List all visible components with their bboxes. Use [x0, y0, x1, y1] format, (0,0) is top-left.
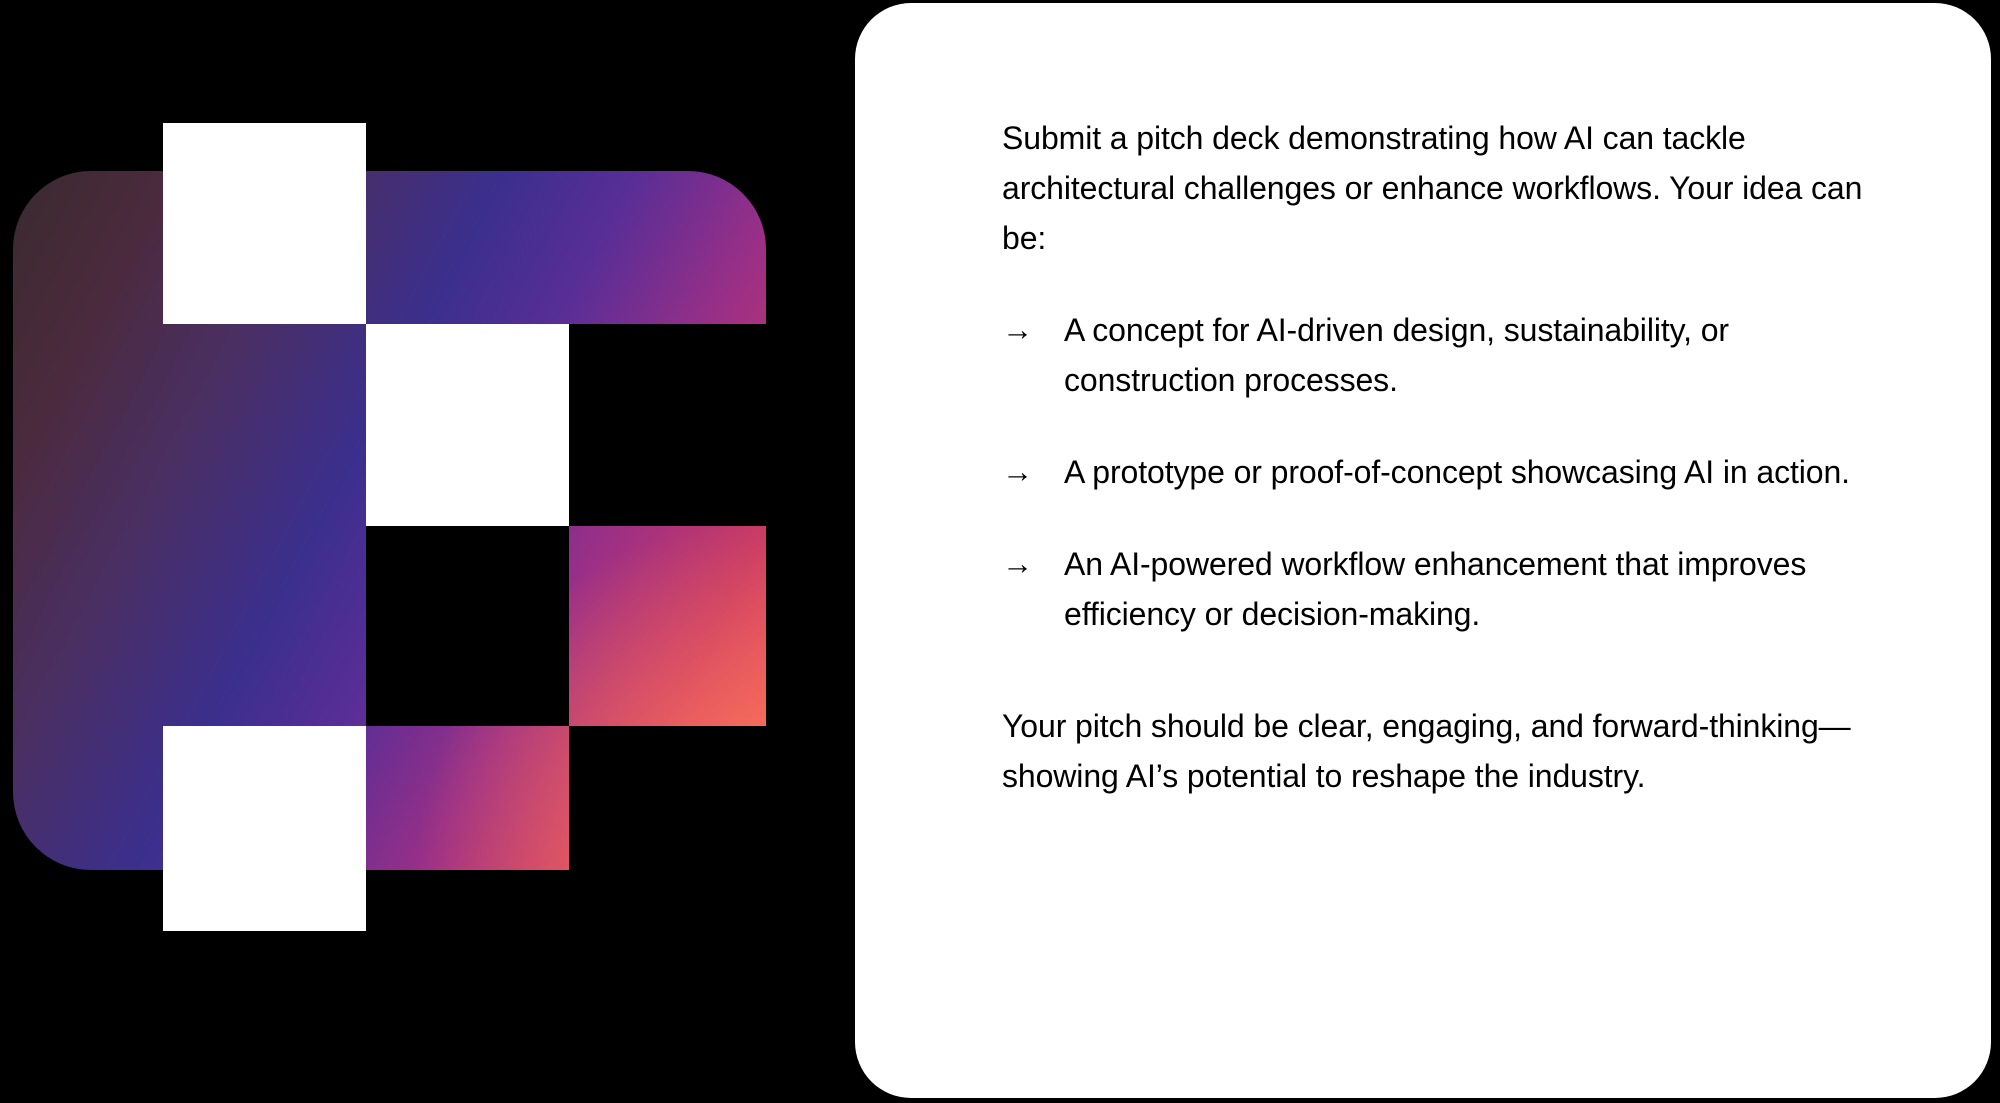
list-item-label: A concept for AI-driven design, sustaina… [1064, 305, 1902, 405]
list-item: → A prototype or proof-of-concept showca… [1002, 447, 1902, 497]
logo-panel [0, 0, 855, 1103]
gradient-checkerboard-logo [13, 171, 766, 870]
bullet-list: → A concept for AI-driven design, sustai… [1002, 305, 1902, 639]
content-body: Submit a pitch deck demonstrating how AI… [1002, 113, 1902, 801]
list-item: → An AI-powered workflow enhancement tha… [1002, 539, 1902, 639]
list-item: → A concept for AI-driven design, sustai… [1002, 305, 1902, 405]
content-card: Submit a pitch deck demonstrating how AI… [855, 3, 1991, 1098]
intro-paragraph: Submit a pitch deck demonstrating how AI… [1002, 113, 1902, 263]
logo-cutout-r2c2 [366, 526, 569, 726]
arrow-right-icon: → [1002, 447, 1064, 497]
list-item-label: A prototype or proof-of-concept showcasi… [1064, 447, 1902, 497]
logo-cutout-r1c3 [569, 324, 779, 526]
closing-paragraph: Your pitch should be clear, engaging, an… [1002, 701, 1902, 801]
logo-tile-white-r1c2 [366, 324, 569, 526]
logo-tile-white-r0c1 [163, 123, 366, 324]
logo-tile-white-r3c1 [163, 726, 366, 931]
list-item-label: An AI-powered workflow enhancement that … [1064, 539, 1902, 639]
arrow-right-icon: → [1002, 539, 1064, 589]
arrow-right-icon: → [1002, 305, 1064, 355]
logo-cutout-r3c3 [569, 726, 779, 931]
